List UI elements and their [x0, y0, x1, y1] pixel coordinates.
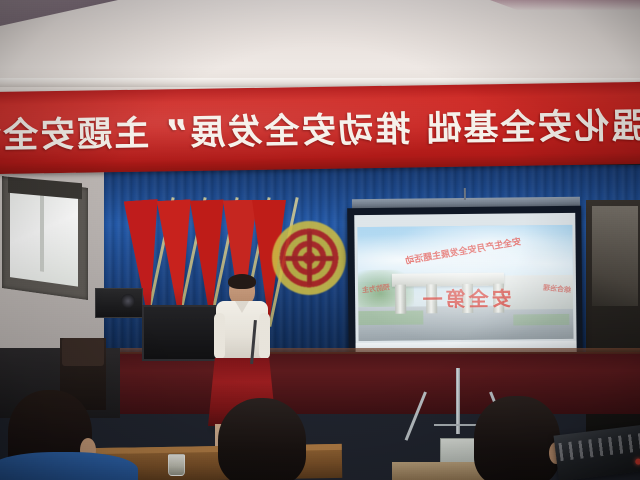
event-banner: 强化安全基础 推动安全发展” 主题安全演讲比赛 [0, 82, 640, 174]
foreground-table-right [392, 462, 488, 480]
mixer-knob-row [558, 433, 640, 461]
slide-lawn-right [513, 314, 569, 326]
audience-shoulders-left [0, 452, 138, 480]
photo-scene: 安全生产月安全发展主题活动 预防为主 综合治理 安全第一 强化安全基础 推动安全… [0, 0, 640, 480]
right-wall-highlight [592, 206, 638, 306]
loudspeaker-cone-icon [121, 294, 135, 308]
speaker-collar [235, 301, 249, 313]
drinking-glass [168, 454, 185, 476]
stage-skirt [92, 352, 640, 414]
screen-hook-icon [464, 188, 466, 200]
screen-surface: 安全生产月安全发展主题活动 预防为主 综合治理 安全第一 [354, 213, 576, 359]
event-banner-text: 强化安全基础 推动安全发展” 主题安全演讲比赛 [0, 97, 640, 158]
ceiling [0, 0, 640, 96]
window-glass [10, 185, 78, 287]
slide-main-text: 安全第一 [358, 282, 573, 313]
speaker-arm-left [214, 313, 225, 359]
emblem-horizontal-stroke [284, 256, 334, 261]
ceiling-corner-right [490, 0, 640, 10]
audience-head-center [218, 398, 306, 480]
wall-loudspeaker [95, 288, 143, 318]
audience-head-right [474, 396, 560, 480]
pull-down-projection-screen: 安全生产月安全发展主题活动 预防为主 综合治理 安全第一 [347, 206, 583, 368]
window-mullion [40, 195, 44, 272]
wall-window [2, 176, 88, 300]
ceiling-corner-left [0, 0, 118, 26]
audio-mixer-console [554, 425, 640, 480]
trade-union-emblem-icon [272, 221, 346, 295]
stage-monitor [142, 305, 224, 361]
speaker-torso [216, 301, 268, 363]
mixer-power-led-icon [635, 458, 640, 465]
projected-slide: 安全生产月安全发展主题活动 预防为主 综合治理 安全第一 [357, 225, 573, 341]
speaker-arm-right [259, 313, 270, 359]
speaker-hair [228, 274, 256, 289]
chair-backrest [62, 338, 104, 366]
